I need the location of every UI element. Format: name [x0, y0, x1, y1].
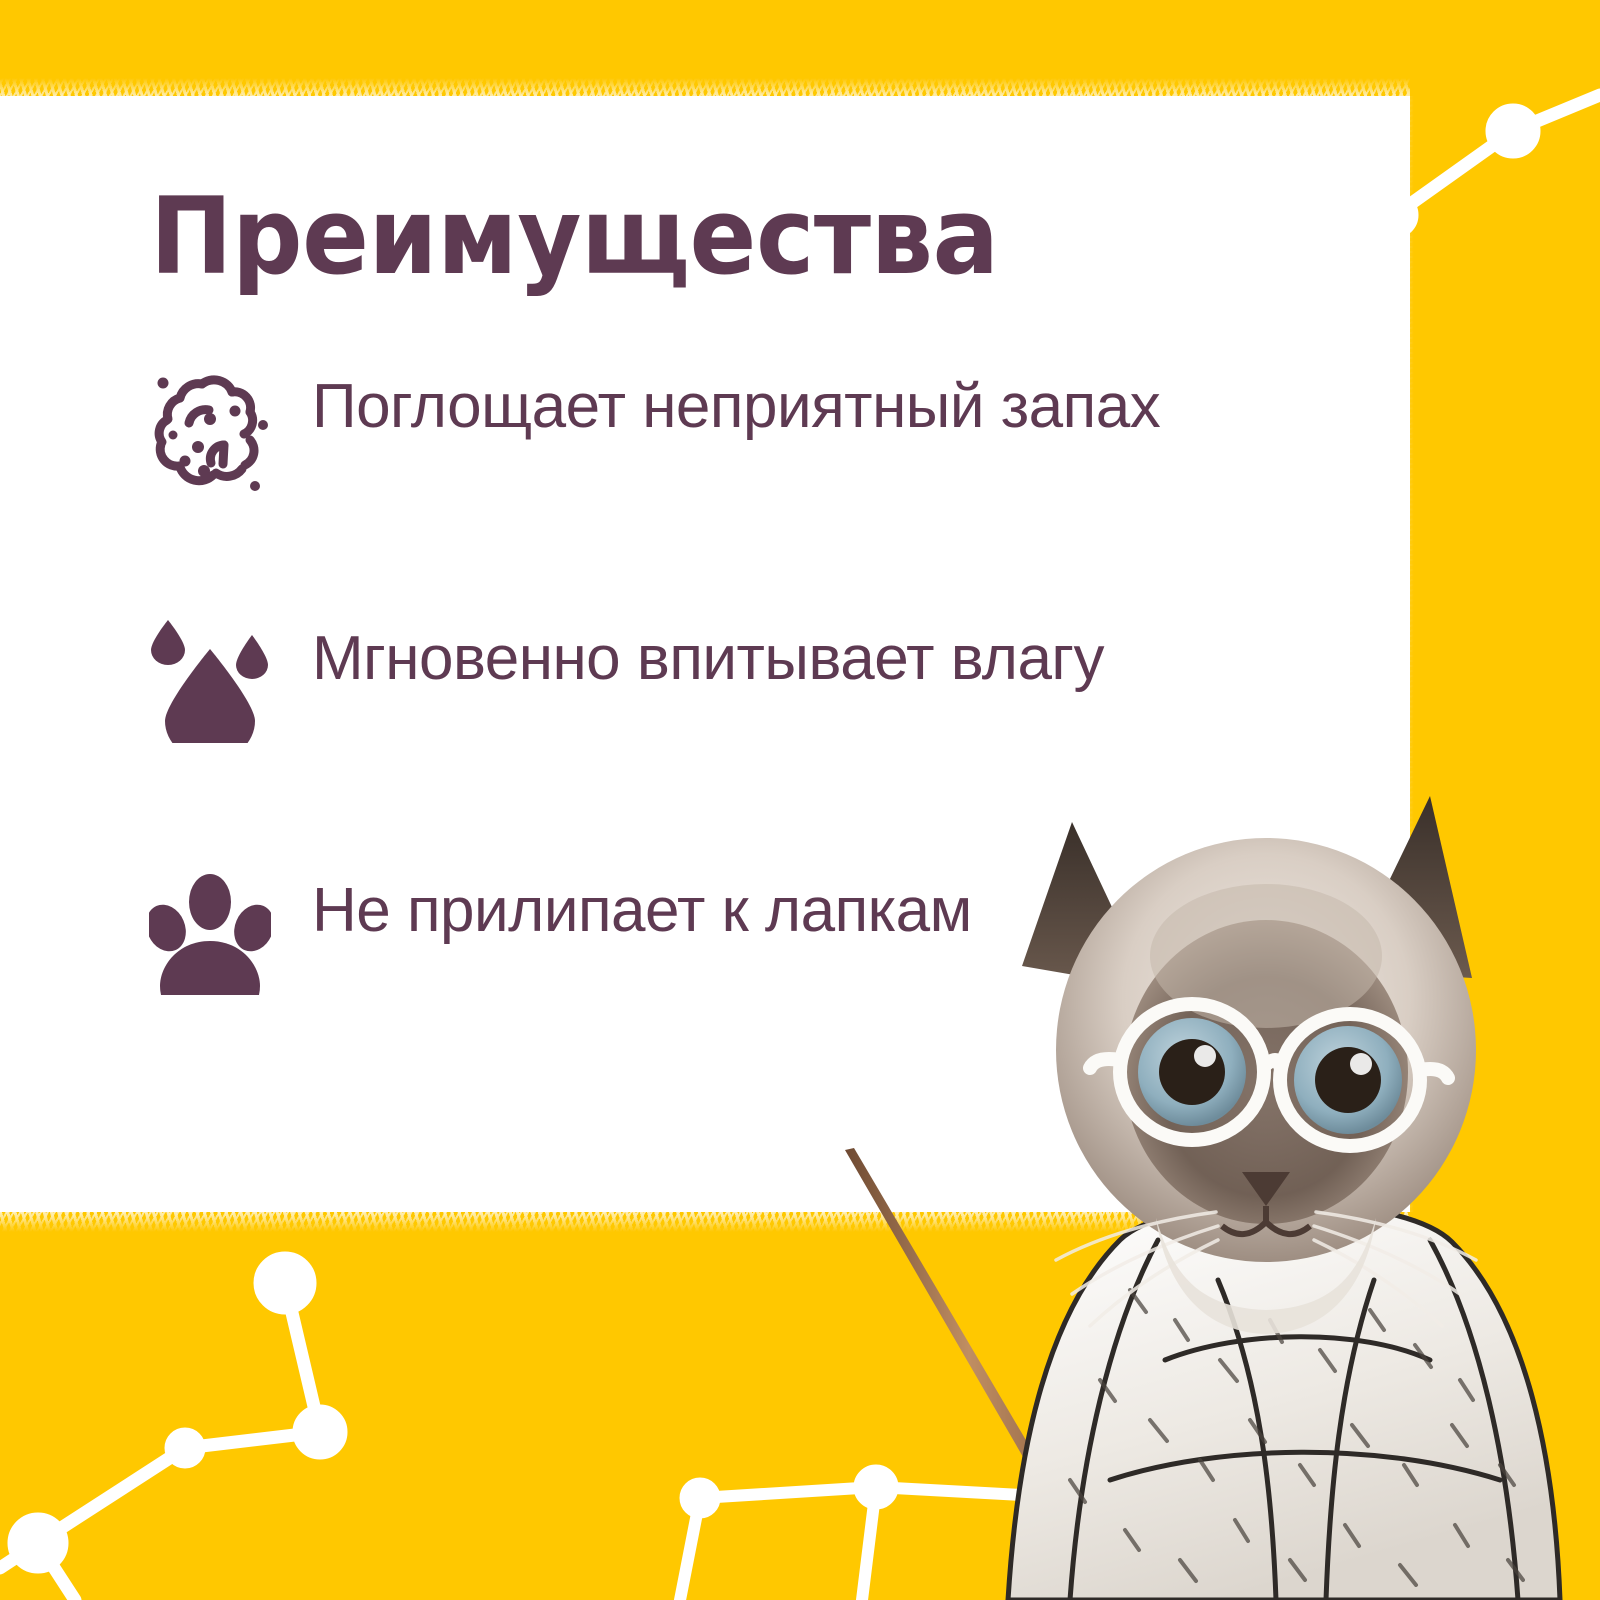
water-drop-icon [146, 616, 274, 744]
benefit-label-moisture: Мгновенно впитывает влагу [312, 616, 1104, 698]
benefit-item-odor: Поглощает неприятный запах [146, 364, 1376, 492]
page-title: Преимущества [150, 184, 999, 290]
paw-print-icon [146, 868, 274, 996]
poster-canvas: Преимущества [0, 0, 1600, 1600]
cat-body-labcoat [1008, 1203, 1560, 1600]
benefit-label-odor: Поглощает неприятный запах [312, 364, 1160, 446]
constellation-bottom-left [0, 1252, 347, 1600]
benefit-label-paws: Не прилипает к лапкам [312, 868, 972, 950]
odor-cloud-icon [146, 364, 274, 492]
cat-mascot [960, 720, 1600, 1600]
